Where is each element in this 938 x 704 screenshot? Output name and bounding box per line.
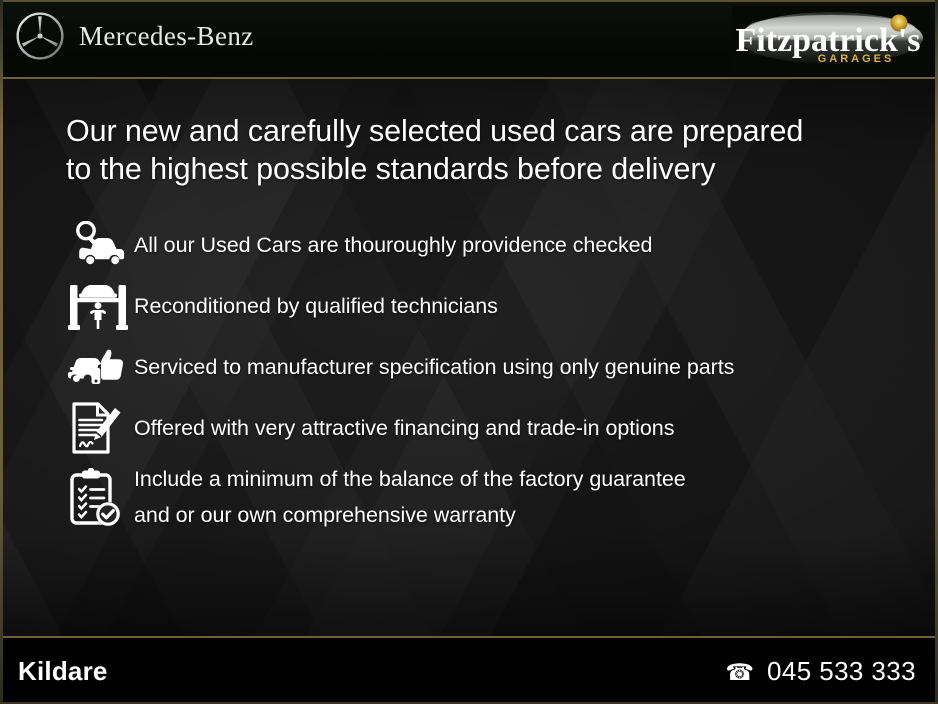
car-on-lift-mechanic-icon (66, 281, 134, 331)
mercedes-star-icon (14, 10, 66, 62)
dealer-promo-slide: Mercedes-Benz (0, 0, 938, 704)
document-signature-pen-icon (66, 402, 134, 454)
clipboard-checklist-verified-icon (66, 468, 134, 526)
feature-text: Include a minimum of the balance of the … (134, 461, 686, 533)
header-bar: Mercedes-Benz (0, 0, 938, 79)
dealer-location: Kildare (18, 656, 108, 687)
feature-list: All our Used Cars are thouroughly provid… (66, 215, 938, 535)
feature-item: All our Used Cars are thouroughly provid… (66, 215, 938, 275)
feature-text: Reconditioned by qualified technicians (134, 288, 498, 324)
feature-item: Reconditioned by qualified technicians (66, 276, 938, 336)
telephone-icon: ☎ (725, 661, 754, 684)
phone-contact[interactable]: ☎ 045 533 333 (725, 656, 916, 687)
feature-text: Serviced to manufacturer specification u… (134, 349, 734, 385)
feature-item: Include a minimum of the balance of the … (66, 459, 938, 535)
feature-text-line-2: and or our own comprehensive warranty (134, 497, 686, 533)
mercedes-benz-brand: Mercedes-Benz (14, 10, 254, 62)
main-content-area: Our new and carefully selected used cars… (0, 79, 938, 636)
headline-line-1: Our new and carefully selected used cars… (66, 112, 896, 150)
feature-item: Offered with very attractive financing a… (66, 398, 938, 458)
garages-wordmark: GARAGES (818, 53, 895, 65)
car-inspection-magnifier-icon (66, 221, 134, 269)
feature-text: Offered with very attractive financing a… (134, 410, 674, 446)
brand-name-text: Mercedes-Benz (79, 21, 254, 52)
phone-number: 045 533 333 (767, 656, 916, 687)
headline-line-2: to the highest possible standards before… (66, 150, 896, 188)
feature-text-line-1: Include a minimum of the balance of the … (134, 467, 686, 491)
car-thumbs-up-icon (66, 346, 134, 388)
feature-text: All our Used Cars are thouroughly provid… (134, 227, 652, 263)
feature-item: Serviced to manufacturer specification u… (66, 337, 938, 397)
footer-bar: Kildare ☎ 045 533 333 (0, 636, 938, 704)
page-headline: Our new and carefully selected used cars… (66, 112, 896, 188)
fitzpatricks-garages-logo: Fitzpatrick's GARAGES (732, 6, 930, 74)
